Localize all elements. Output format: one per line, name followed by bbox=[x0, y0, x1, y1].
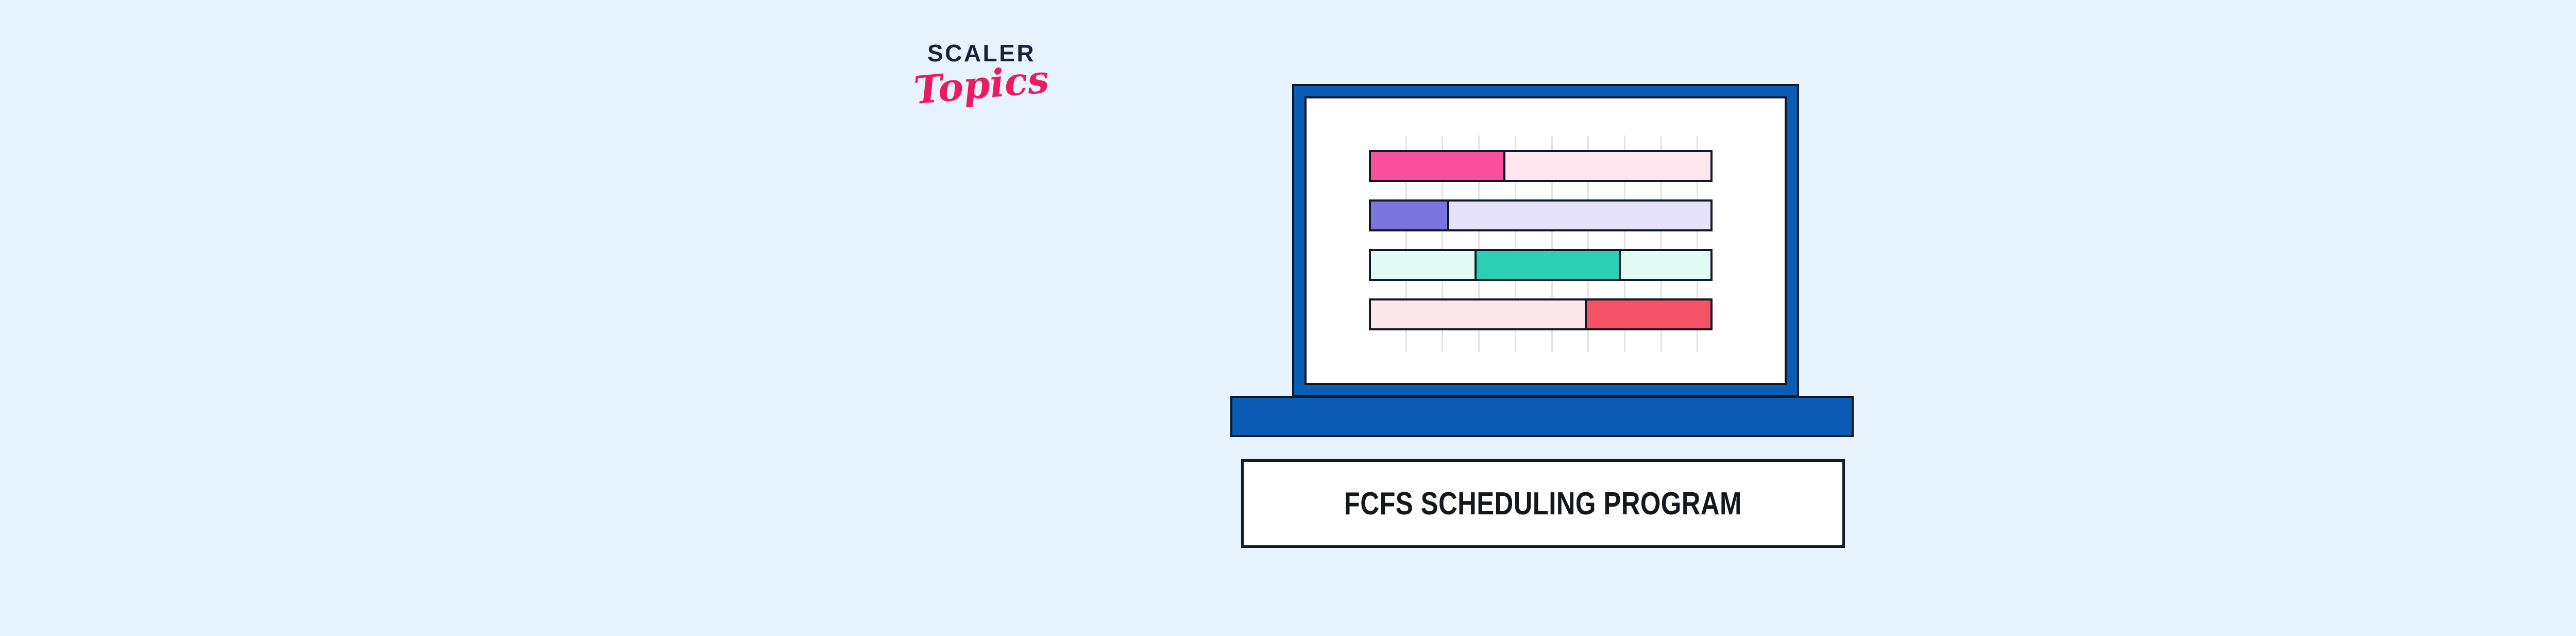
gantt-idle-segment bbox=[1371, 251, 1475, 279]
gantt-idle-segment bbox=[1619, 251, 1710, 279]
gantt-idle-segment bbox=[1503, 152, 1710, 180]
gantt-burst-segment bbox=[1585, 300, 1710, 328]
caption-title: FCFS SCHEDULING PROGRAM bbox=[1344, 486, 1742, 522]
brand-name-topics: Topics bbox=[895, 59, 1067, 111]
caption-box: FCFS SCHEDULING PROGRAM bbox=[1241, 459, 1845, 548]
gantt-bar-row bbox=[1369, 199, 1713, 231]
gantt-idle-segment bbox=[1371, 300, 1585, 328]
laptop-screen bbox=[1304, 96, 1787, 385]
laptop-illustration bbox=[1230, 84, 1854, 439]
laptop-base bbox=[1230, 396, 1854, 437]
gantt-chart bbox=[1307, 98, 1785, 383]
gantt-bar-row bbox=[1369, 150, 1713, 182]
gantt-bar-row bbox=[1369, 298, 1713, 330]
gantt-bar-row bbox=[1369, 249, 1713, 281]
scaler-topics-logo: SCALER Topics bbox=[896, 41, 1066, 139]
gantt-burst-segment bbox=[1371, 152, 1503, 180]
illustration-canvas: SCALER Topics FCFS SCHEDULING PROGRAM bbox=[0, 0, 2576, 636]
gantt-burst-segment bbox=[1475, 251, 1619, 279]
gantt-idle-segment bbox=[1447, 202, 1710, 229]
gantt-burst-segment bbox=[1371, 202, 1447, 229]
laptop-lid bbox=[1292, 84, 1799, 397]
